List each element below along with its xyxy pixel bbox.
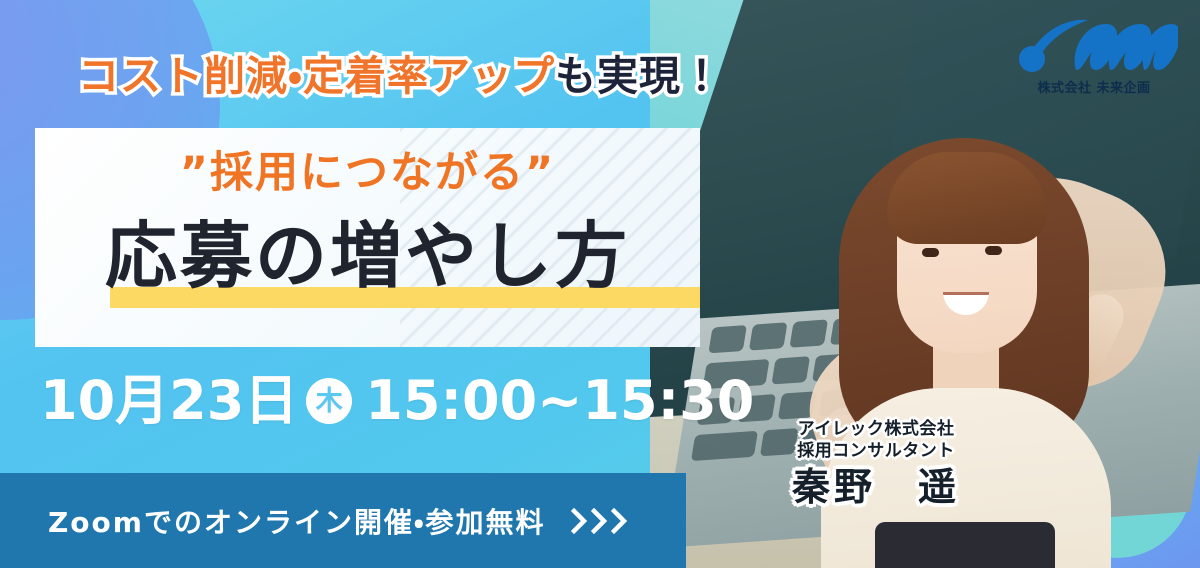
- card-main-title-wrap: 応募の増やし方: [35, 220, 700, 292]
- tagline: コスト削減・定着率アップも実現！: [78, 56, 723, 97]
- company-logo: 株式会社 未来企画: [1010, 14, 1178, 96]
- chevron-right-icon: [611, 508, 629, 534]
- keyboard-key: [691, 431, 758, 461]
- eye-left: [922, 248, 939, 257]
- skirt: [875, 522, 1055, 568]
- chevron-right-icon: [571, 508, 629, 534]
- presenter-company: アイレック株式会社: [752, 418, 1000, 440]
- cta-banner[interactable]: Zoomでのオンライン開催・参加無料: [0, 473, 686, 568]
- presenter-name: 秦野 遥: [752, 467, 1000, 509]
- keyboard-key: [708, 325, 747, 353]
- schedule-line: 10月23日 木 15:00~15:30: [40, 374, 754, 428]
- card-main-title: 応募の増やし方: [105, 214, 630, 298]
- card-sub-title: ”採用につながる”: [35, 152, 700, 195]
- cta-label: Zoomでのオンライン開催・参加無料: [48, 501, 545, 541]
- logo-mark-icon: [1010, 14, 1178, 76]
- keyboard-key: [749, 322, 788, 350]
- chevron-right-icon: [591, 508, 609, 534]
- schedule-time: 15:00~15:30: [365, 374, 754, 428]
- bangs: [887, 152, 1047, 244]
- tagline-highlight: コスト削減・定着率アップ: [78, 52, 555, 100]
- eye-right: [985, 246, 1002, 255]
- title-card: ”採用につながる” 応募の増やし方: [35, 128, 700, 347]
- presenter-role: 採用コンサルタント: [752, 440, 1000, 462]
- keyboard-key: [771, 356, 810, 384]
- schedule-date: 10月23日: [40, 374, 298, 428]
- chevron-right-icon: [571, 508, 589, 534]
- webinar-banner: 株式会社 未来企画 コスト削減・定着率アップも実現！ ”採用につながる” 応募の…: [0, 0, 1200, 568]
- tagline-rest: も実現！: [555, 52, 723, 100]
- logo-company-name: 株式会社 未来企画: [1010, 77, 1178, 96]
- presenter-caption: アイレック株式会社 採用コンサルタント 秦野 遥: [752, 418, 1000, 509]
- schedule-day-of-week: 木: [306, 378, 352, 424]
